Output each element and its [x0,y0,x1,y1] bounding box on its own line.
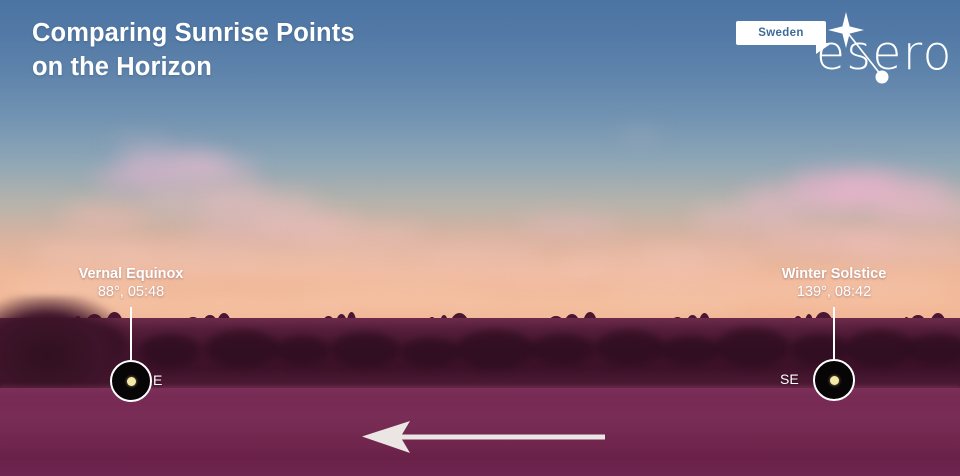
compass-label-se: SE [780,371,799,387]
page-title: Comparing Sunrise Points on the Horizon [32,16,355,84]
compass-label-e: E [153,372,162,388]
sun-dot-icon [830,376,839,385]
direction-arrow [358,418,618,458]
marker-title-vernal-equinox: Vernal Equinox [21,265,241,283]
marker-leader-line-winter-solstice [833,307,835,359]
sun-position-marker-winter-solstice[interactable] [813,359,855,401]
star-icon [828,12,864,48]
marker-label-winter-solstice: Winter Solstice139°, 08:42 [724,265,944,302]
marker-title-winter-solstice: Winter Solstice [724,265,944,283]
sun-position-marker-vernal-equinox[interactable] [110,360,152,402]
sunrise-horizon-infographic: Comparing Sunrise Points on the Horizon … [0,0,960,476]
esero-sweden-logo[interactable]: Sweden esero [736,8,948,92]
logo-end-dot [876,71,889,84]
logo-star-and-line [736,8,948,92]
marker-azimuth-time-winter-solstice: 139°, 08:42 [724,283,944,302]
arrow-left-icon [362,421,605,453]
marker-label-vernal-equinox: Vernal Equinox88°, 05:48 [21,265,241,302]
marker-leader-line-vernal-equinox [130,307,132,360]
marker-azimuth-time-vernal-equinox: 88°, 05:48 [21,283,241,302]
sun-dot-icon [127,377,136,386]
